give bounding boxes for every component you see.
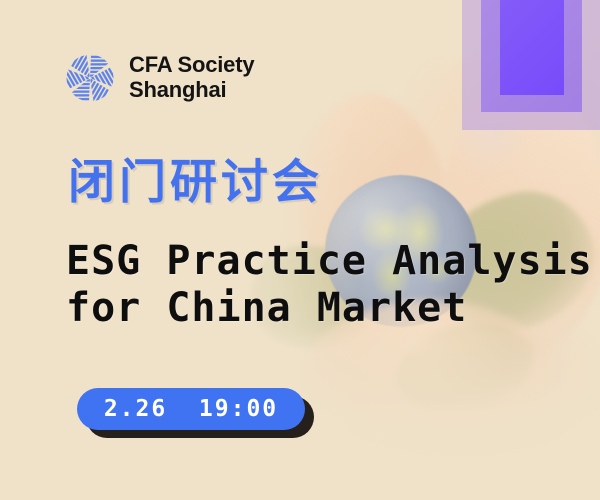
- logo-text: CFA Society Shanghai: [129, 53, 254, 102]
- headline-english: ESG Practice Analysis for China Market: [66, 238, 593, 332]
- date-time-label: 2.26 19:00: [104, 396, 278, 422]
- logo-lockup: CFA Society Shanghai: [64, 52, 254, 104]
- cfa-pinwheel-icon: [64, 52, 116, 104]
- headline-chinese: 闭门研讨会: [68, 159, 323, 206]
- date-time-pill[interactable]: 2.26 19:00: [77, 388, 305, 430]
- event-banner: CFA Society Shanghai 闭门研讨会 ESG Practice …: [0, 0, 600, 500]
- pill-body[interactable]: 2.26 19:00: [77, 388, 305, 430]
- leaf-icon: [391, 318, 539, 417]
- decor-square-inner: [500, 0, 564, 95]
